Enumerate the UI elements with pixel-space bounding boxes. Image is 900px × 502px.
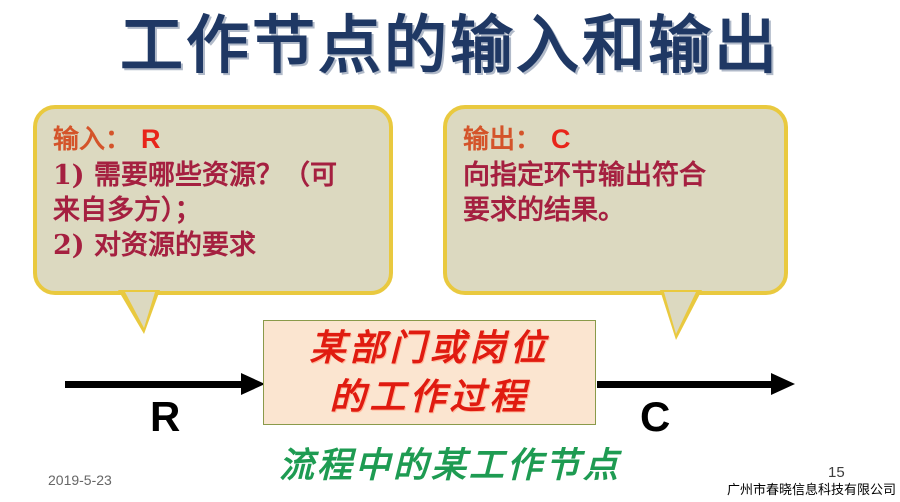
input-arrow — [65, 378, 265, 390]
callout-input-line-1: 1) 需要哪些资源？（可 — [53, 158, 373, 193]
page-title: 工作节点的输入和输出 — [0, 6, 900, 85]
callout-input-tail — [118, 290, 160, 334]
input-arrow-label: R — [150, 393, 180, 441]
callout-output-line-1: 向指定环节输出符合 — [463, 158, 768, 193]
process-node-box: 某部门或岗位 的工作过程 — [263, 320, 596, 425]
callout-output-heading-tag: C — [541, 124, 571, 154]
input-arrow-shaft — [65, 381, 245, 388]
output-arrow-shaft — [597, 381, 775, 388]
callout-output-tail — [660, 290, 702, 340]
callout-output-line-2: 要求的结果。 — [463, 193, 768, 228]
date-stamp: 2019-5-23 — [48, 472, 112, 488]
callout-output-heading-label: 输出： — [463, 125, 541, 155]
callout-input-heading-label: 输入： — [53, 125, 131, 155]
output-arrow — [597, 378, 797, 390]
company-footer: 广州市春晓信息科技有限公司 — [727, 479, 896, 498]
callout-output: 输出：C 向指定环节输出符合 要求的结果。 — [443, 105, 788, 295]
callout-input-line-3: 2) 对资源的要求 — [53, 228, 373, 263]
callout-input-heading: 输入：R — [53, 123, 373, 156]
output-arrow-head-icon — [771, 373, 795, 395]
callout-input: 输入：R 1) 需要哪些资源？（可 来自多方）； 2) 对资源的要求 — [33, 105, 393, 295]
callout-input-body: 1) 需要哪些资源？（可 来自多方）； 2) 对资源的要求 — [53, 158, 373, 263]
callout-input-heading-tag: R — [131, 124, 161, 154]
callout-output-body: 向指定环节输出符合 要求的结果。 — [463, 158, 768, 228]
output-arrow-label: C — [640, 393, 670, 441]
slide-canvas: 工作节点的输入和输出 输入：R 1) 需要哪些资源？（可 来自多方）； 2) 对… — [0, 0, 900, 502]
process-node-line-1: 某部门或岗位 — [309, 324, 549, 373]
callout-output-heading: 输出：C — [463, 123, 768, 156]
callout-output-content: 输出：C 向指定环节输出符合 要求的结果。 — [447, 109, 784, 236]
callout-input-line-2: 来自多方）； — [53, 193, 373, 228]
callout-input-content: 输入：R 1) 需要哪些资源？（可 来自多方）； 2) 对资源的要求 — [37, 109, 389, 271]
process-node-line-2: 的工作过程 — [329, 373, 529, 422]
input-arrow-head-icon — [241, 373, 265, 395]
